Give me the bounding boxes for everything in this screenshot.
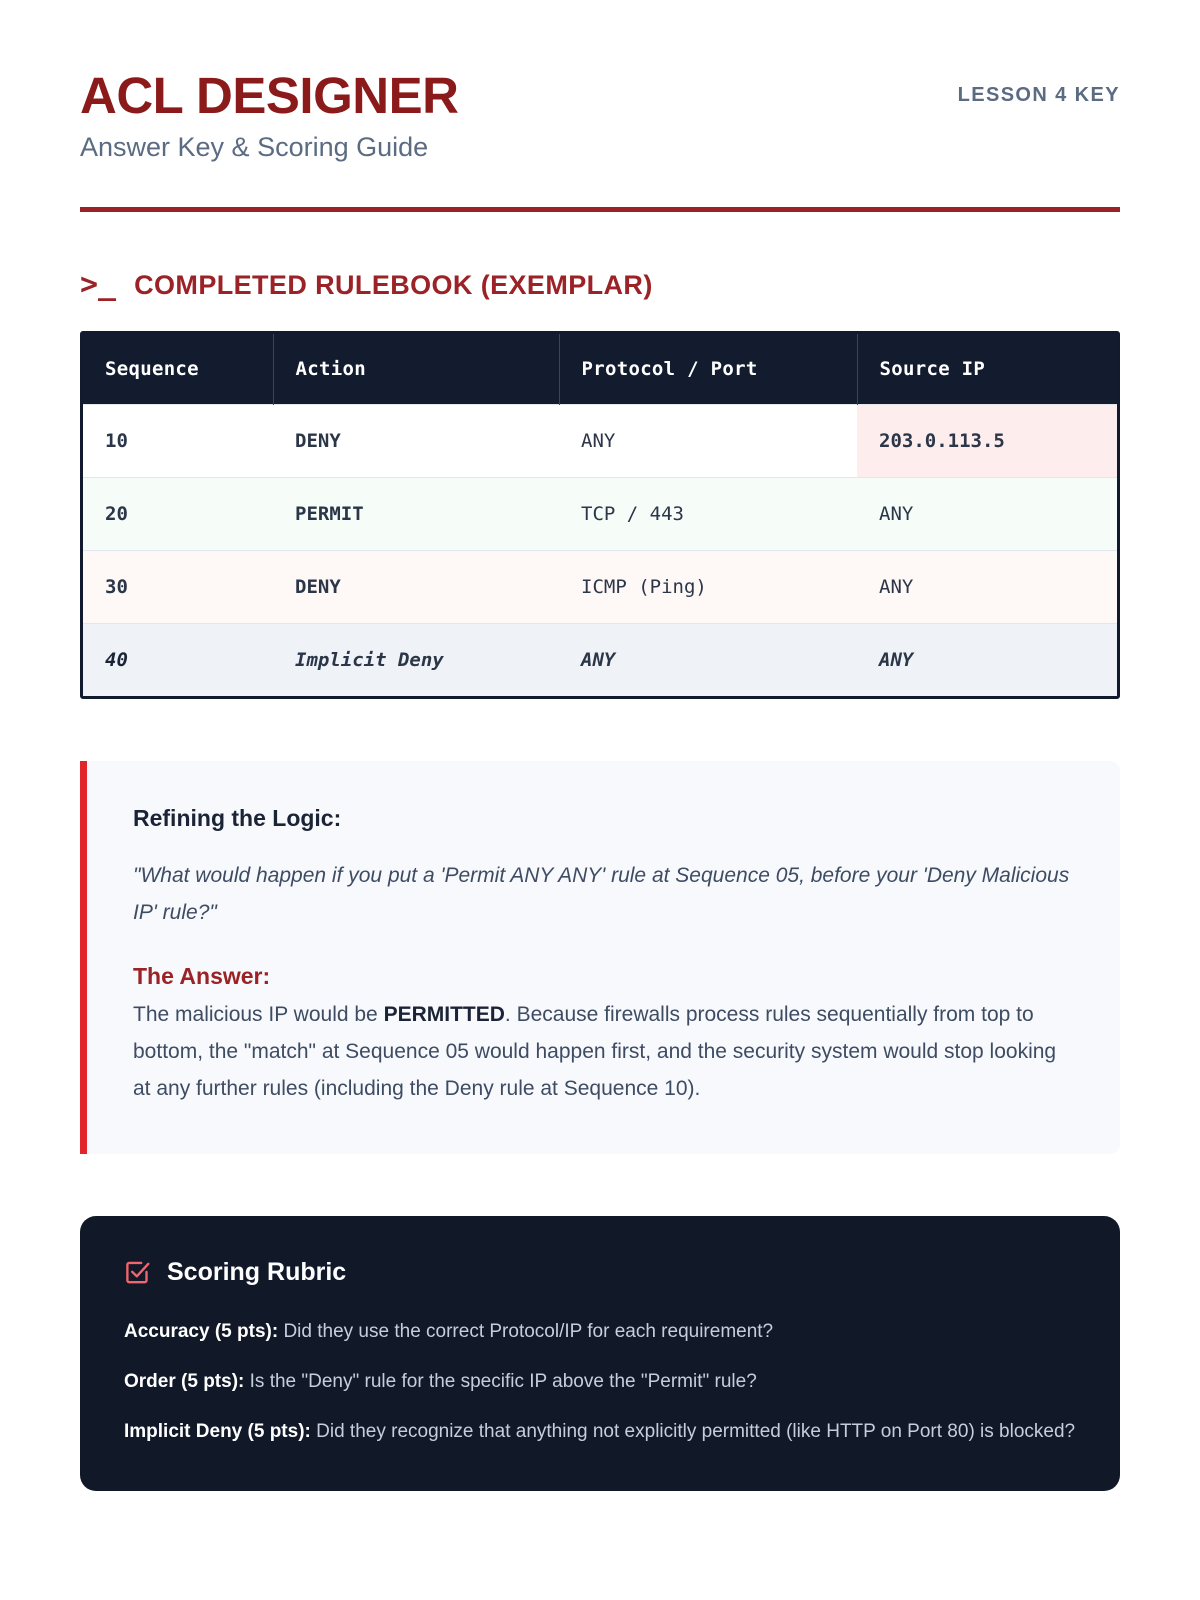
rubric-header: Scoring Rubric [124, 1258, 1076, 1287]
column-header-sequence: Sequence [83, 334, 273, 405]
rubric-item-label: Implicit Deny (5 pts): [124, 1421, 311, 1442]
title-block: ACL DESIGNER Answer Key & Scoring Guide [80, 68, 458, 163]
rubric-item-text: Did they use the correct Protocol/IP for… [278, 1321, 773, 1342]
answer-body: The malicious IP would be PERMITTED. Bec… [133, 996, 1072, 1108]
cell-source-ip: ANY [857, 624, 1117, 697]
rubric-item: Order (5 pts): Is the "Deny" rule for th… [124, 1367, 1076, 1397]
column-header-source-ip: Source IP [857, 334, 1117, 405]
answer-label: The Answer: [133, 963, 1072, 990]
header-row: ACL DESIGNER Answer Key & Scoring Guide … [80, 68, 1120, 163]
acl-table-container: Sequence Action Protocol / Port Source I… [80, 331, 1120, 699]
callout-title: Refining the Logic: [133, 805, 1072, 832]
terminal-prompt-icon: >_ [80, 270, 116, 300]
cell-protocol-port: TCP / 443 [559, 478, 857, 551]
cell-sequence: 40 [83, 624, 273, 697]
cell-protocol-port: ICMP (Ping) [559, 551, 857, 624]
lesson-badge: LESSON 4 KEY [958, 68, 1120, 107]
document-header: ACL DESIGNER Answer Key & Scoring Guide … [80, 0, 1120, 212]
acl-table-body: 10 DENY ANY 203.0.113.5 20 PERMIT TCP / … [83, 405, 1117, 697]
refining-logic-callout: Refining the Logic: "What would happen i… [80, 761, 1120, 1153]
answer-emphasis: PERMITTED [384, 1003, 505, 1026]
page-subtitle: Answer Key & Scoring Guide [80, 131, 458, 163]
scoring-rubric-panel: Scoring Rubric Accuracy (5 pts): Did the… [80, 1216, 1120, 1491]
table-row: 30 DENY ICMP (Ping) ANY [83, 551, 1117, 624]
table-row: 10 DENY ANY 203.0.113.5 [83, 405, 1117, 478]
table-header-row: Sequence Action Protocol / Port Source I… [83, 334, 1117, 405]
rubric-item-text: Is the "Deny" rule for the specific IP a… [244, 1371, 756, 1392]
cell-sequence: 20 [83, 478, 273, 551]
rubric-title: Scoring Rubric [167, 1258, 346, 1287]
rubric-item: Implicit Deny (5 pts): Did they recogniz… [124, 1417, 1076, 1447]
cell-action: Implicit Deny [273, 624, 559, 697]
table-row: 40 Implicit Deny ANY ANY [83, 624, 1117, 697]
column-header-action: Action [273, 334, 559, 405]
cell-sequence: 30 [83, 551, 273, 624]
cell-action: PERMIT [273, 478, 559, 551]
rubric-item-label: Order (5 pts): [124, 1371, 244, 1392]
answer-key-page: ACL DESIGNER Answer Key & Scoring Guide … [0, 0, 1200, 1600]
cell-sequence: 10 [83, 405, 273, 478]
callout-quote: "What would happen if you put a 'Permit … [133, 858, 1072, 930]
rubric-item: Accuracy (5 pts): Did they use the corre… [124, 1317, 1076, 1347]
cell-source-ip: 203.0.113.5 [857, 405, 1117, 478]
column-header-protocol-port: Protocol / Port [559, 334, 857, 405]
page-title: ACL DESIGNER [80, 68, 458, 123]
acl-table-head: Sequence Action Protocol / Port Source I… [83, 334, 1117, 405]
header-divider [80, 207, 1120, 212]
rubric-item-text: Did they recognize that anything not exp… [311, 1421, 1075, 1442]
answer-text-before: The malicious IP would be [133, 1003, 384, 1026]
cell-source-ip: ANY [857, 478, 1117, 551]
checkbox-checked-icon [124, 1259, 151, 1286]
section-title: COMPLETED RULEBOOK (EXEMPLAR) [134, 270, 653, 301]
cell-protocol-port: ANY [559, 624, 857, 697]
cell-protocol-port: ANY [559, 405, 857, 478]
section-heading: >_ COMPLETED RULEBOOK (EXEMPLAR) [80, 270, 1120, 301]
cell-action: DENY [273, 405, 559, 478]
acl-table: Sequence Action Protocol / Port Source I… [83, 334, 1117, 696]
table-row: 20 PERMIT TCP / 443 ANY [83, 478, 1117, 551]
rubric-item-label: Accuracy (5 pts): [124, 1321, 278, 1342]
cell-source-ip: ANY [857, 551, 1117, 624]
cell-action: DENY [273, 551, 559, 624]
